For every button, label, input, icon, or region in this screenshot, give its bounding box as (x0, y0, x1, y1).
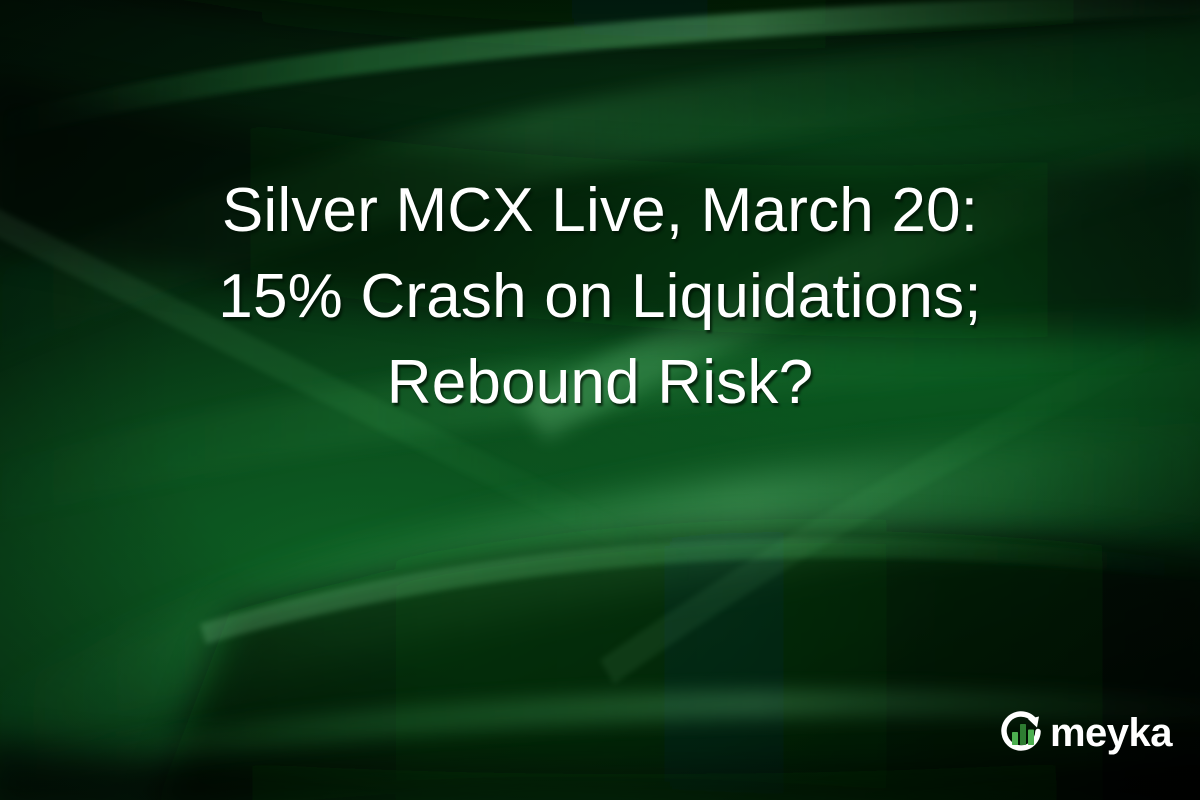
page-title: Silver MCX Live, March 20: 15% Crash on … (0, 168, 1200, 426)
logo-bar-right (1028, 730, 1034, 746)
headline-line-1: Silver MCX Live, March 20: (70, 168, 1130, 254)
logo-bar-left (1012, 732, 1018, 745)
circular-arrow-bar-chart-icon (997, 708, 1047, 758)
headline-line-2: 15% Crash on Liquidations; (70, 254, 1130, 340)
logo-bar-center (1020, 724, 1026, 745)
meyka-logo[interactable]: meyka (997, 708, 1172, 758)
headline-line-3: Rebound Risk? (70, 340, 1130, 426)
logo-wordmark: meyka (1050, 713, 1172, 753)
banner-card: Silver MCX Live, March 20: 15% Crash on … (0, 0, 1200, 800)
